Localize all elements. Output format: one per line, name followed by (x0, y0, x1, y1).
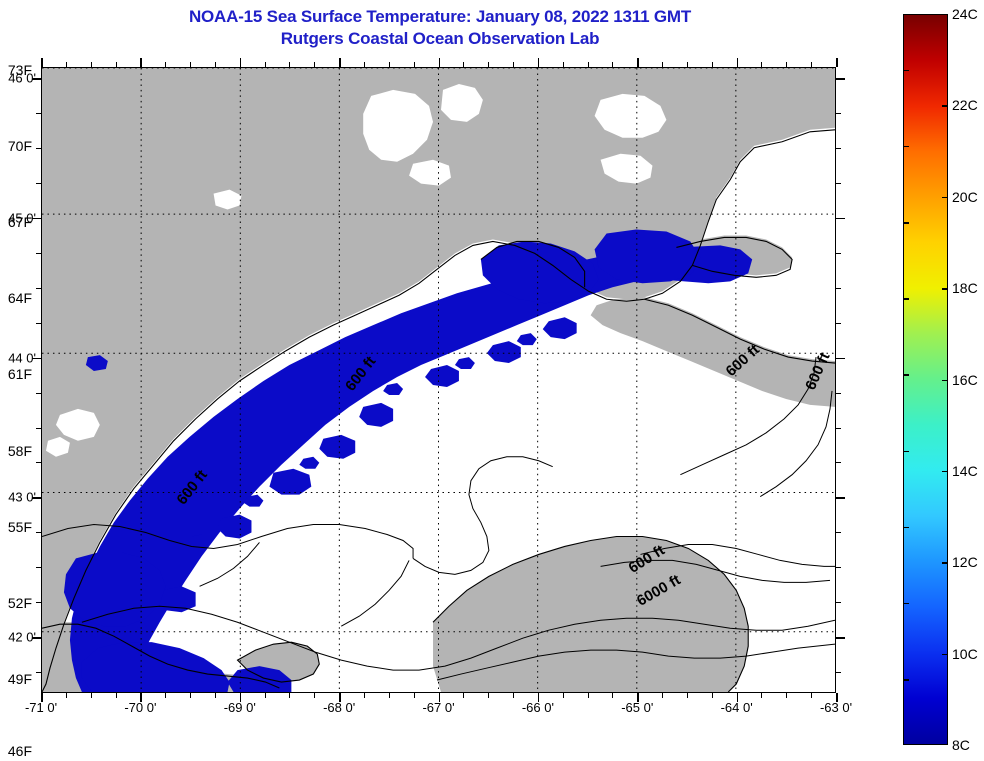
axis-tick (463, 693, 464, 698)
axis-tick (662, 693, 663, 698)
x-axis-tick-label: -71 0' (25, 700, 57, 715)
axis-tick (66, 62, 67, 67)
axis-tick (786, 62, 787, 67)
x-axis-tick-label: -64 0' (721, 700, 753, 715)
axis-tick (190, 693, 191, 698)
colorbar-label-fahrenheit: 46F (8, 743, 32, 759)
colorbar-tick-celsius (942, 471, 948, 473)
axis-tick (36, 288, 41, 289)
axis-tick (36, 113, 41, 114)
colorbar-label-celsius: 14C (952, 463, 978, 479)
map-plot-area[interactable]: 600 ft 600 ft 600 ft 600 ft 600 ft 6000 … (41, 67, 836, 693)
axis-tick (364, 62, 365, 67)
colorbar-label-celsius: 18C (952, 280, 978, 296)
axis-tick (786, 693, 787, 698)
axis-tick (612, 62, 613, 67)
axis-tick (36, 602, 41, 603)
axis-tick (563, 62, 564, 67)
colorbar-label-fahrenheit: 67F (8, 214, 32, 230)
colorbar-label-fahrenheit: 52F (8, 595, 32, 611)
axis-tick (836, 462, 841, 463)
axis-tick (588, 693, 589, 698)
axis-tick (36, 393, 41, 394)
colorbar-tick-fahrenheit (903, 298, 909, 300)
colorbar-tick-celsius (942, 288, 948, 290)
sst-map-image: 600 ft 600 ft 600 ft 600 ft 600 ft 6000 … (42, 68, 835, 692)
colorbar-tick-celsius (942, 380, 948, 382)
axis-tick (811, 693, 812, 698)
axis-tick (36, 323, 41, 324)
x-axis-tick-label: -63 0' (820, 700, 852, 715)
axis-tick (687, 693, 688, 698)
colorbar-tick-fahrenheit (903, 146, 909, 148)
axis-tick (637, 58, 639, 67)
axis-tick (488, 62, 489, 67)
axis-tick (414, 693, 415, 698)
axis-tick (463, 62, 464, 67)
colorbar-tick-fahrenheit (903, 603, 909, 605)
colorbar-tick-fahrenheit (903, 70, 909, 72)
axis-tick (36, 567, 41, 568)
colorbar-label-celsius: 12C (952, 554, 978, 570)
axis-tick (563, 693, 564, 698)
colorbar-label-celsius: 8C (952, 737, 970, 753)
axis-tick (314, 693, 315, 698)
axis-tick (662, 62, 663, 67)
axis-tick (215, 693, 216, 698)
axis-tick (116, 693, 117, 698)
colorbar-label-fahrenheit: 55F (8, 519, 32, 535)
axis-tick (339, 58, 341, 67)
axis-tick (836, 532, 841, 533)
axis-tick (836, 672, 841, 673)
axis-tick (811, 62, 812, 67)
axis-tick (761, 693, 762, 698)
axis-tick (612, 693, 613, 698)
colorbar-label-celsius: 10C (952, 646, 978, 662)
axis-tick (364, 693, 365, 698)
title-line-1: NOAA-15 Sea Surface Temperature: January… (0, 6, 880, 28)
axis-tick (836, 637, 845, 639)
axis-tick (836, 58, 838, 67)
colorbar-tick-fahrenheit (903, 222, 909, 224)
colorbar-tick-celsius (942, 197, 948, 199)
axis-tick (836, 393, 841, 394)
colorbar-tick-fahrenheit (903, 374, 909, 376)
axis-tick (389, 693, 390, 698)
axis-tick (190, 62, 191, 67)
x-axis-tick-label: -68 0' (323, 700, 355, 715)
axis-tick (836, 323, 841, 324)
axis-tick (265, 62, 266, 67)
colorbar-tick-fahrenheit (903, 527, 909, 529)
axis-tick (439, 58, 441, 67)
axis-tick (289, 62, 290, 67)
axis-tick (538, 58, 540, 67)
axis-tick (687, 62, 688, 67)
y-axis-tick-label: 42 0' (8, 630, 36, 645)
axis-tick (41, 58, 43, 67)
axis-tick (836, 497, 845, 499)
axis-tick (836, 148, 841, 149)
colorbar-label-celsius: 16C (952, 372, 978, 388)
axis-tick (836, 428, 841, 429)
axis-tick (36, 183, 41, 184)
x-axis-tick-label: -65 0' (621, 700, 653, 715)
x-axis-tick-label: -70 0' (124, 700, 156, 715)
colorbar-tick-celsius (942, 105, 948, 107)
axis-tick (36, 672, 41, 673)
axis-tick (66, 693, 67, 698)
colorbar-tick-fahrenheit (903, 679, 909, 681)
axis-tick (513, 62, 514, 67)
axis-tick (836, 288, 841, 289)
title-line-2: Rutgers Coastal Ocean Observation Lab (0, 28, 880, 50)
axis-tick (240, 58, 242, 67)
axis-tick (513, 693, 514, 698)
axis-tick (836, 567, 841, 568)
colorbar-label-celsius: 22C (952, 97, 978, 113)
colorbar-label-fahrenheit: 64F (8, 290, 32, 306)
colorbar-label-fahrenheit: 70F (8, 138, 32, 154)
colorbar-label-fahrenheit: 73F (8, 62, 32, 78)
colorbar-tick-fahrenheit (903, 451, 909, 453)
axis-tick (36, 253, 41, 254)
axis-tick (737, 58, 739, 67)
axis-tick (836, 183, 841, 184)
axis-tick (414, 62, 415, 67)
colorbar-label-fahrenheit: 49F (8, 671, 32, 687)
axis-tick (265, 693, 266, 698)
axis-tick (712, 62, 713, 67)
colorbar-label-fahrenheit: 61F (8, 366, 32, 382)
colorbar-label-celsius: 24C (952, 6, 978, 22)
map-frame: 600 ft 600 ft 600 ft 600 ft 600 ft 6000 … (41, 67, 836, 693)
axis-tick (836, 218, 845, 220)
axis-tick (712, 693, 713, 698)
axis-tick (140, 58, 142, 67)
axis-tick (36, 532, 41, 533)
colorbar-label-celsius: 20C (952, 189, 978, 205)
axis-tick (836, 113, 841, 114)
axis-tick (836, 78, 845, 80)
axis-tick (836, 602, 841, 603)
colorbar-tick-celsius (942, 654, 948, 656)
axis-tick (116, 62, 117, 67)
axis-tick (836, 358, 845, 360)
colorbar-tick-celsius (942, 562, 948, 564)
x-axis-tick-label: -66 0' (522, 700, 554, 715)
y-axis-tick-label: 43 0' (8, 490, 36, 505)
axis-tick (91, 62, 92, 67)
axis-tick (314, 62, 315, 67)
axis-tick (588, 62, 589, 67)
axis-tick (36, 462, 41, 463)
axis-tick (289, 693, 290, 698)
x-axis-tick-label: -69 0' (224, 700, 256, 715)
axis-tick (165, 693, 166, 698)
y-axis-tick-label: 44 0' (8, 350, 36, 365)
x-axis-tick-label: -67 0' (422, 700, 454, 715)
axis-tick (488, 693, 489, 698)
axis-tick (36, 428, 41, 429)
axis-tick (91, 693, 92, 698)
title-block: NOAA-15 Sea Surface Temperature: January… (0, 6, 880, 50)
axis-tick (165, 62, 166, 67)
colorbar-label-fahrenheit: 58F (8, 443, 32, 459)
axis-tick (761, 62, 762, 67)
axis-tick (389, 62, 390, 67)
axis-tick (215, 62, 216, 67)
axis-tick (36, 148, 41, 149)
axis-tick (836, 253, 841, 254)
